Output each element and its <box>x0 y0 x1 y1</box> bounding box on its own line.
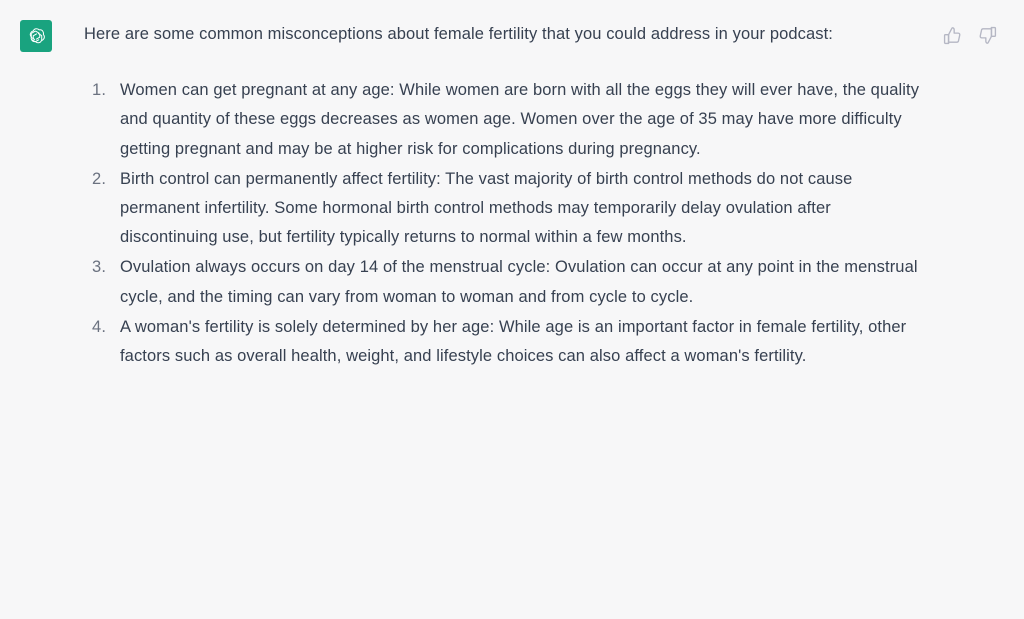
message-intro-paragraph: Here are some common misconceptions abou… <box>84 20 920 49</box>
list-item: Women can get pregnant at any age: While… <box>84 76 920 164</box>
thumbs-down-icon <box>978 26 997 45</box>
list-item: Ovulation always occurs on day 14 of the… <box>84 253 920 311</box>
list-item: Birth control can permanently affect fer… <box>84 165 920 253</box>
misconceptions-list: Women can get pregnant at any age: While… <box>84 76 920 371</box>
assistant-avatar <box>20 20 52 52</box>
message-content: Here are some common misconceptions abou… <box>84 20 920 372</box>
thumbs-down-button[interactable] <box>976 24 998 46</box>
thumbs-up-icon <box>943 26 962 45</box>
assistant-message-row: Here are some common misconceptions abou… <box>0 0 1024 619</box>
feedback-actions <box>941 24 998 46</box>
thumbs-up-button[interactable] <box>941 24 963 46</box>
openai-logo-icon <box>26 26 47 47</box>
list-item: A woman's fertility is solely determined… <box>84 313 920 371</box>
